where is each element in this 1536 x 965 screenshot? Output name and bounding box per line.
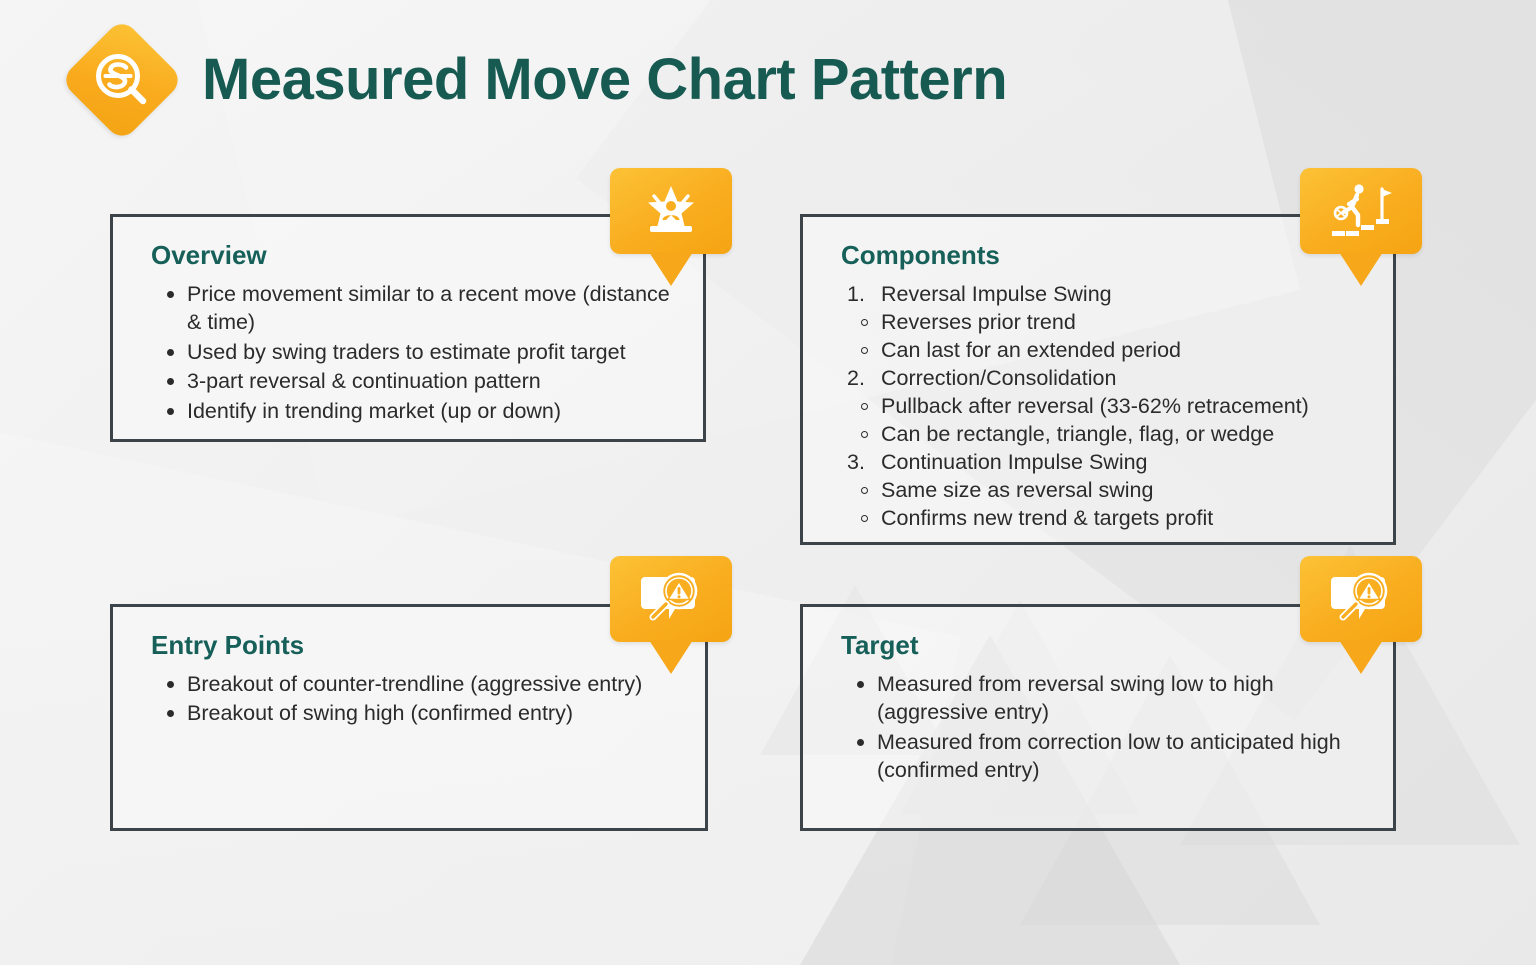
list-item: Breakout of counter-trendline (aggressiv… xyxy=(151,670,679,699)
hollow-bullet-icon xyxy=(861,431,868,438)
list-item-text: Price movement similar to a recent move … xyxy=(187,282,670,335)
list-item: Measured from reversal swing low to high… xyxy=(841,670,1367,727)
list-item-text: Breakout of swing high (confirmed entry) xyxy=(187,701,573,725)
sub-list-item-text: Can last for an extended period xyxy=(881,338,1181,362)
bullet-icon xyxy=(167,681,174,688)
magnifier-alert-bubble-icon xyxy=(639,569,703,629)
list-marker: 2. xyxy=(847,364,877,392)
sub-list-item: Pullback after reversal (33-62% retracem… xyxy=(841,392,1367,420)
hollow-bullet-icon xyxy=(861,403,868,410)
star-person-icon xyxy=(640,182,702,240)
card-list-target: Measured from reversal swing low to high… xyxy=(841,670,1367,785)
stairs-goal-flag-icon xyxy=(1328,181,1394,241)
list-item: Price movement similar to a recent move … xyxy=(151,280,677,337)
hollow-bullet-icon xyxy=(861,319,868,326)
sub-list-item-text: Reverses prior trend xyxy=(881,310,1076,334)
sub-list-item-text: Pullback after reversal (33-62% retracem… xyxy=(881,394,1309,418)
list-item: Used by swing traders to estimate profit… xyxy=(151,338,677,367)
list-item-text: Correction/Consolidation xyxy=(881,366,1116,390)
list-item-text: Measured from correction low to anticipa… xyxy=(877,730,1341,783)
list-item: 3. Continuation Impulse Swing xyxy=(841,448,1367,476)
list-item-text: Continuation Impulse Swing xyxy=(881,450,1148,474)
page-header: Measured Move Chart Pattern xyxy=(78,36,1007,124)
bullet-icon xyxy=(167,710,174,717)
card-title-target: Target xyxy=(841,631,1367,660)
card-title-overview: Overview xyxy=(151,241,677,270)
brand-logo xyxy=(60,18,184,142)
list-marker: 1. xyxy=(847,280,877,308)
magnifier-s-logo-icon xyxy=(90,48,154,112)
list-item-text: 3-part reversal & continuation pattern xyxy=(187,369,541,393)
sub-list-item: Reverses prior trend xyxy=(841,308,1367,336)
card-list-overview: Price movement similar to a recent move … xyxy=(151,280,677,426)
bullet-icon xyxy=(167,349,174,356)
bullet-icon xyxy=(167,291,174,298)
page-title: Measured Move Chart Pattern xyxy=(202,51,1007,109)
sub-list-item: Can be rectangle, triangle, flag, or wed… xyxy=(841,420,1367,448)
hollow-bullet-icon xyxy=(861,347,868,354)
list-item: Measured from correction low to anticipa… xyxy=(841,728,1367,785)
list-marker: 3. xyxy=(847,448,877,476)
sub-list-item: Can last for an extended period xyxy=(841,336,1367,364)
bullet-icon xyxy=(167,378,174,385)
list-item-text: Identify in trending market (up or down) xyxy=(187,399,561,423)
list-item: 3-part reversal & continuation pattern xyxy=(151,367,677,396)
badge-overview xyxy=(610,168,732,254)
list-item: Identify in trending market (up or down) xyxy=(151,397,677,426)
sub-list: Same size as reversal swing Confirms new… xyxy=(841,476,1367,532)
sub-list-item-text: Same size as reversal swing xyxy=(881,478,1153,502)
hollow-bullet-icon xyxy=(861,487,868,494)
hollow-bullet-icon xyxy=(861,515,868,522)
list-item-text: Measured from reversal swing low to high… xyxy=(877,672,1274,725)
list-item: 1. Reversal Impulse Swing xyxy=(841,280,1367,308)
magnifier-alert-bubble-icon xyxy=(1329,569,1393,629)
list-item: 2. Correction/Consolidation xyxy=(841,364,1367,392)
bullet-icon xyxy=(857,739,864,746)
badge-entry-points xyxy=(610,556,732,642)
bullet-icon xyxy=(857,681,864,688)
sub-list: Pullback after reversal (33-62% retracem… xyxy=(841,392,1367,448)
card-list-components: 1. Reversal Impulse Swing Reverses prior… xyxy=(841,280,1367,532)
list-item-text: Used by swing traders to estimate profit… xyxy=(187,340,626,364)
badge-components xyxy=(1300,168,1422,254)
sub-list-item-text: Can be rectangle, triangle, flag, or wed… xyxy=(881,422,1274,446)
list-item-text: Reversal Impulse Swing xyxy=(881,282,1112,306)
infographic-canvas: Measured Move Chart Pattern Overview Pri… xyxy=(0,0,1536,965)
card-list-entry-points: Breakout of counter-trendline (aggressiv… xyxy=(151,670,679,728)
card-title-components: Components xyxy=(841,241,1367,270)
sub-list-item-text: Confirms new trend & targets profit xyxy=(881,506,1213,530)
card-title-entry-points: Entry Points xyxy=(151,631,679,660)
sub-list-item: Confirms new trend & targets profit xyxy=(841,504,1367,532)
list-item: Breakout of swing high (confirmed entry) xyxy=(151,699,679,728)
badge-target xyxy=(1300,556,1422,642)
sub-list-item: Same size as reversal swing xyxy=(841,476,1367,504)
list-item-text: Breakout of counter-trendline (aggressiv… xyxy=(187,672,642,696)
sub-list: Reverses prior trend Can last for an ext… xyxy=(841,308,1367,364)
card-components: Components 1. Reversal Impulse Swing Rev… xyxy=(800,214,1396,545)
bullet-icon xyxy=(167,408,174,415)
